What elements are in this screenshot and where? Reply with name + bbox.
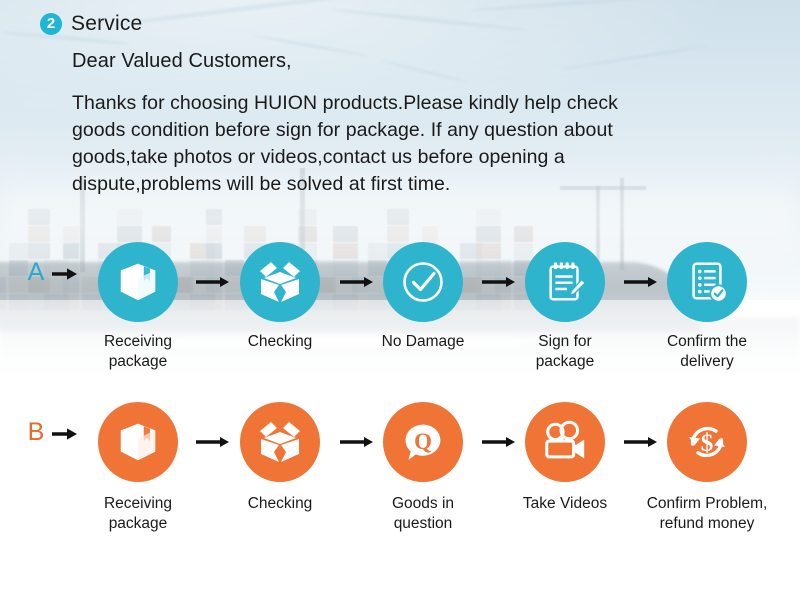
flow-a-step-1[interactable]: Receiving package: [73, 238, 203, 372]
flow-b-step-3-label: Goods in question: [358, 494, 488, 534]
paragraph-line: Thanks for choosing HUION products.Pleas…: [72, 90, 784, 117]
flow-a-step-4-circle: [525, 242, 605, 322]
flow-b-step-1[interactable]: Receiving package: [73, 398, 203, 534]
flow-a-step-1-circle: [98, 242, 178, 322]
flow-b-step-3[interactable]: Q Goods in question: [358, 398, 488, 534]
flow-a-step-4[interactable]: Sign for package: [500, 238, 630, 372]
flow-b-letter: B: [24, 420, 48, 445]
open-box-icon: [256, 418, 304, 466]
flow-a-step-1-label: Receiving package: [73, 332, 203, 372]
checklist-confirm-icon: [684, 259, 730, 305]
flow-b-step-5-circle: $: [667, 402, 747, 482]
flow-b-step-2[interactable]: Checking: [215, 398, 345, 514]
video-camera-icon: [541, 420, 589, 464]
paragraph-line: goods,take photos or videos,contact us b…: [72, 144, 784, 171]
flow-b-step-2-circle: [240, 402, 320, 482]
flow-row-b: B Recei: [0, 398, 800, 543]
svg-text:$: $: [701, 430, 714, 457]
closed-box-icon: [115, 419, 161, 465]
flow-a-step-5-label: Confirm the delivery: [642, 332, 772, 372]
paragraph-line: goods condition before sign for package.…: [72, 117, 784, 144]
flow-b-step-5-label: Confirm Problem, refund money: [642, 494, 772, 534]
page-title: Service: [71, 12, 142, 36]
flow-a-step-2-label: Checking: [215, 332, 345, 352]
svg-text:Q: Q: [414, 429, 432, 454]
flow-b-step-1-circle: [98, 402, 178, 482]
flow-a-step-5-circle: [667, 242, 747, 322]
service-info-banner: 2 Service Dear Valued Customers, Thanks …: [0, 0, 800, 592]
flow-b-step-4[interactable]: Take Videos: [500, 398, 630, 514]
service-paragraph: Thanks for choosing HUION products.Pleas…: [72, 90, 784, 198]
flow-b-step-5[interactable]: $ Confirm Problem, refund money: [642, 398, 772, 534]
flow-b-step-4-circle: [525, 402, 605, 482]
flow-a-step-2-circle: [240, 242, 320, 322]
paragraph-line: dispute,problems will be solved at first…: [72, 171, 784, 198]
section-number-badge: 2: [40, 13, 62, 35]
open-box-icon: [256, 258, 304, 306]
flow-b-step-3-circle: Q: [383, 402, 463, 482]
flow-a-step-2[interactable]: Checking: [215, 238, 345, 352]
flow-a-step-3[interactable]: No Damage: [358, 238, 488, 352]
section-header: 2 Service: [40, 12, 142, 36]
question-bubble-icon: Q: [401, 420, 445, 464]
flow-row-a: A Recei: [0, 238, 800, 383]
flow-a-letter: A: [24, 260, 48, 285]
flow-a-step-3-circle: [383, 242, 463, 322]
salutation-text: Dear Valued Customers,: [72, 50, 292, 73]
flow-b-step-1-label: Receiving package: [73, 494, 203, 534]
sign-clipboard-icon: [542, 259, 588, 305]
flow-b-step-2-label: Checking: [215, 494, 345, 514]
refund-dollar-icon: $: [683, 418, 731, 466]
closed-box-icon: [115, 259, 161, 305]
flow-a-step-5[interactable]: Confirm the delivery: [642, 238, 772, 372]
flow-a-step-4-label: Sign for package: [500, 332, 630, 372]
flow-a-step-3-label: No Damage: [358, 332, 488, 352]
check-circle-icon: [399, 258, 447, 306]
flow-b-step-4-label: Take Videos: [500, 494, 630, 514]
